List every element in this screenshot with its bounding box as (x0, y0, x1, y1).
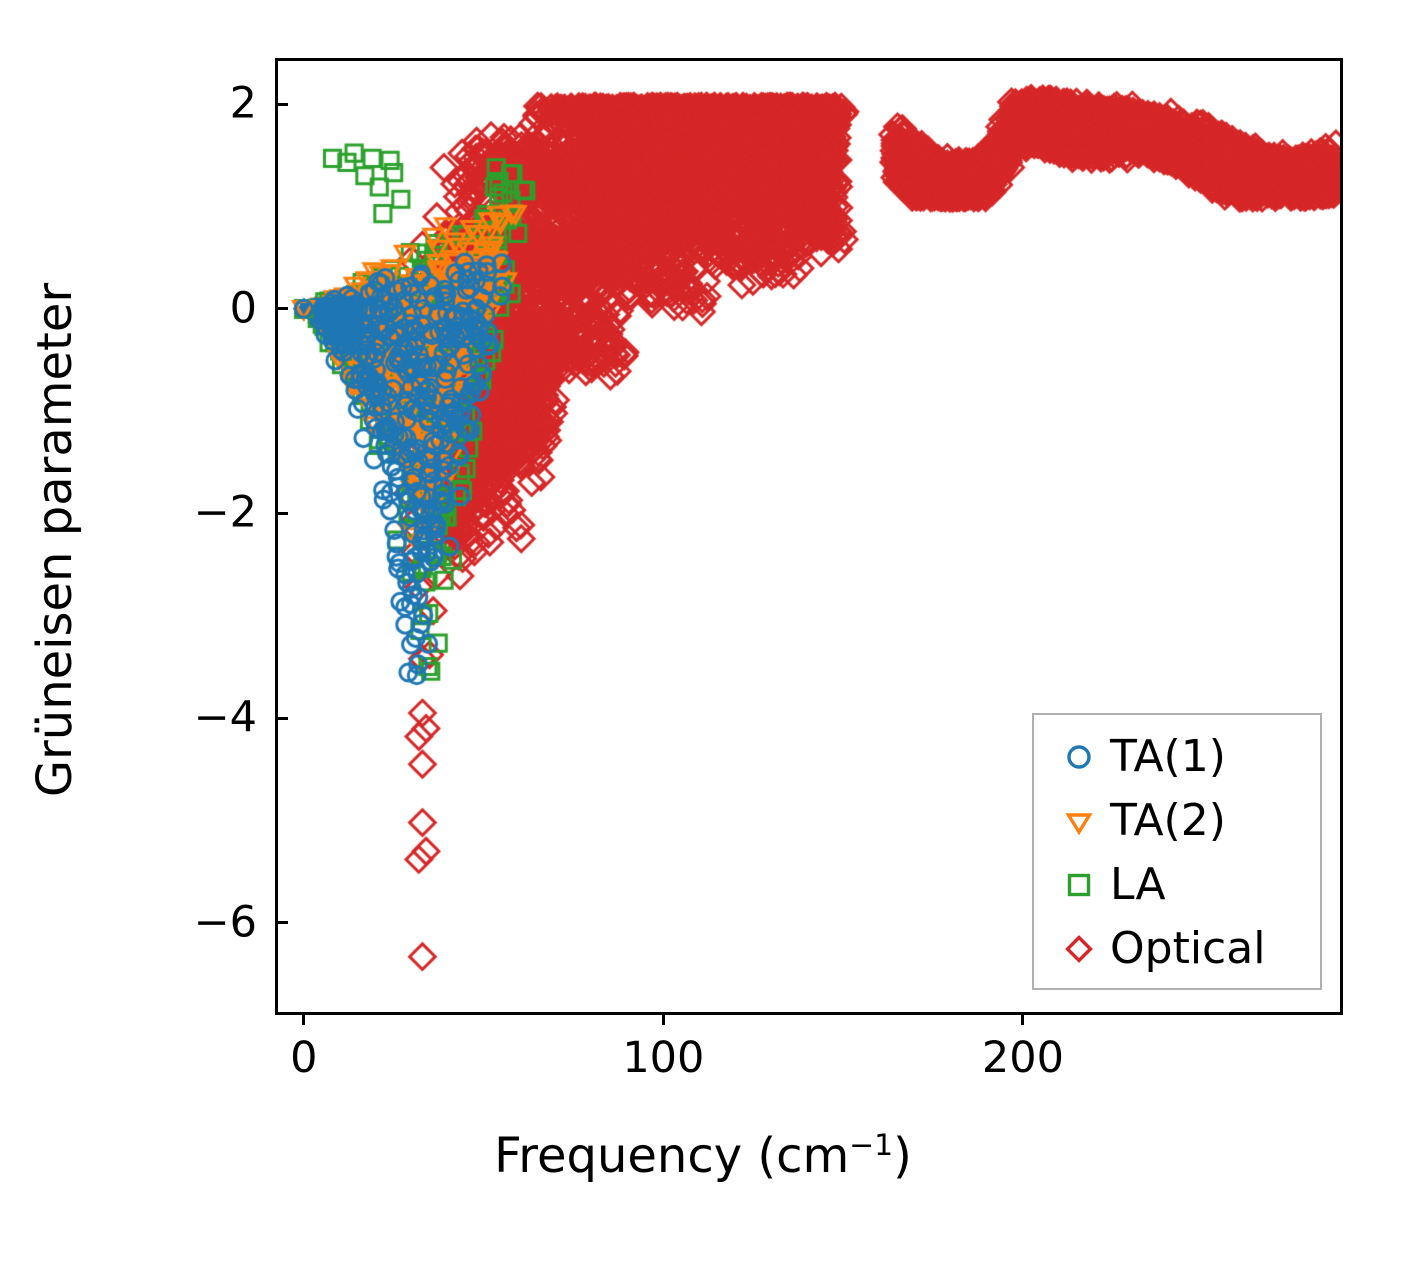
y-tick-mark (275, 717, 288, 720)
x-axis-label-exponent: −1 (849, 1128, 893, 1163)
x-tick-mark (302, 1012, 305, 1025)
y-axis-label: Grüneisen parameter (27, 283, 83, 797)
legend-label-optical: Optical (1110, 927, 1265, 971)
y-tick-label: 2 (115, 83, 257, 126)
y-tick-label: 0 (115, 287, 257, 330)
x-tick-mark (662, 1012, 665, 1025)
legend-box[interactable]: TA(1) TA(2) LA Optical (1032, 713, 1322, 990)
legend-entry-ta2[interactable]: TA(2) (1034, 789, 1320, 853)
x-tick-mark (1021, 1012, 1024, 1025)
triangle-down-marker-icon (1048, 804, 1110, 838)
y-tick-mark (275, 512, 288, 515)
y-tick-label: −4 (115, 697, 257, 740)
x-axis-label-base: Frequency (cm (494, 1128, 849, 1184)
y-tick-label: −6 (115, 901, 257, 944)
x-tick-label: 0 (290, 1037, 317, 1080)
legend-label-ta1: TA(1) (1110, 735, 1226, 779)
legend-entry-la[interactable]: LA (1034, 853, 1320, 917)
figure-canvas: Grüneisen parameter 010020020−2−4−6 Freq… (0, 0, 1406, 1264)
x-tick-label: 100 (622, 1037, 704, 1080)
y-tick-mark (275, 921, 288, 924)
x-axis-label: Frequency (cm−1) (0, 1128, 1406, 1184)
legend-entry-optical[interactable]: Optical (1034, 917, 1320, 981)
y-tick-mark (275, 307, 288, 310)
y-axis-label-container: Grüneisen parameter (0, 0, 110, 1080)
circle-marker-icon (1048, 740, 1110, 774)
diamond-marker-icon (1048, 932, 1110, 966)
y-tick-mark (275, 103, 288, 106)
x-axis-label-tail: ) (893, 1128, 912, 1184)
legend-label-la: LA (1110, 863, 1166, 907)
legend-label-ta2: TA(2) (1110, 799, 1226, 843)
square-marker-icon (1048, 868, 1110, 902)
x-tick-label: 200 (982, 1037, 1064, 1080)
legend-entry-ta1[interactable]: TA(1) (1034, 725, 1320, 789)
y-tick-label: −2 (115, 492, 257, 535)
